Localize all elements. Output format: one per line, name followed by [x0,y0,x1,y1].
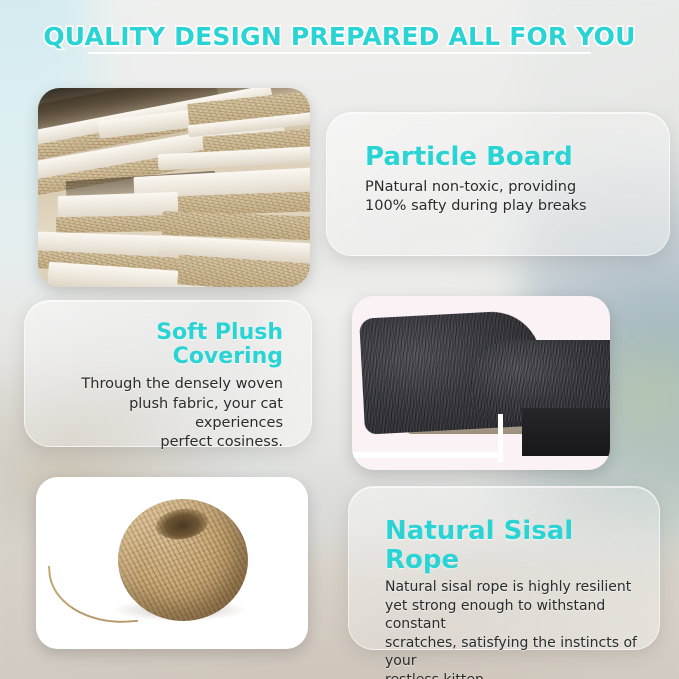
feature-body-natural-sisal-rope: Natural sisal rope is highly resilient y… [385,578,637,679]
feature-body-line: perfect cosiness. [47,433,283,452]
feature-body-line: plush fabric, your cat experiences [47,395,283,433]
plush-fabric-illustration [352,296,610,470]
feature-heading-particle-board: Particle Board [365,143,647,172]
page-title: QUALITY DESIGN PREPARED ALL FOR YOU [0,22,679,51]
particle-board-illustration [38,88,310,287]
feature-body-line: Natural sisal rope is highly resilient [385,578,637,596]
feature-body-soft-plush-covering: Through the densely woven plush fabric, … [47,375,283,452]
feature-heading-natural-sisal-rope: Natural Sisal Rope [385,517,637,574]
photo-plush-fabric [352,296,610,470]
infographic-canvas: QUALITY DESIGN PREPARED ALL FOR YOU [0,0,679,679]
feature-card-natural-sisal-rope: Natural Sisal Rope Natural sisal rope is… [348,486,660,650]
feature-body-particle-board: PNatural non-toxic, providing 100% safty… [365,178,647,216]
feature-body-line: PNatural non-toxic, providing [365,178,647,197]
page-title-text: QUALITY DESIGN PREPARED ALL FOR YOU [43,22,635,51]
photo-particle-board [38,88,310,287]
feature-heading-soft-plush-covering: Soft Plush Covering [47,321,283,369]
title-underline [88,52,591,54]
photo-sisal-rope [36,477,308,649]
feature-body-line: Through the densely woven [47,375,283,394]
sisal-rope-illustration [36,477,308,649]
feature-body-line: yet strong enough to withstand constant [385,597,637,634]
feature-body-line: 100% safty during play breaks [365,197,647,216]
feature-card-soft-plush-covering: Soft Plush Covering Through the densely … [24,300,312,447]
feature-card-particle-board: Particle Board PNatural non-toxic, provi… [326,112,670,256]
feature-body-line: restless kitten. [385,671,637,679]
feature-body-line: scratches, satisfying the instincts of y… [385,634,637,671]
